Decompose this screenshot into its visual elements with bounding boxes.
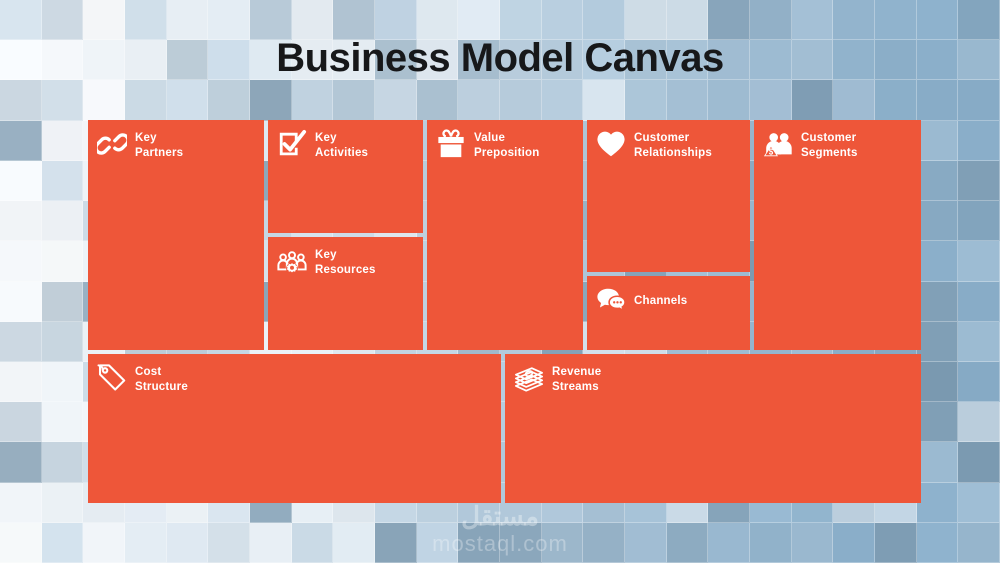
block-channels[interactable]: Channels	[587, 276, 750, 350]
people-dollar-icon: $	[763, 129, 793, 159]
block-label: Revenue Streams	[552, 363, 601, 395]
block-customer-relationships[interactable]: Customer Relationships	[587, 120, 750, 272]
chain-link-icon	[97, 129, 127, 159]
block-header: $ Customer Segments	[763, 129, 921, 161]
block-label: Cost Structure	[135, 363, 188, 395]
page-title: Business Model Canvas	[0, 36, 1000, 81]
block-label: Key Activities	[315, 129, 368, 161]
block-header: Cost Structure	[97, 363, 501, 395]
block-label: Channels	[634, 285, 687, 309]
speech-bubbles-icon	[596, 285, 626, 315]
block-key-activities[interactable]: Key Activities	[268, 120, 423, 233]
block-label: Customer Segments	[801, 129, 858, 161]
block-label: Key Resources	[315, 246, 376, 278]
gift-box-icon	[436, 129, 466, 159]
block-label: Value Preposition	[474, 129, 539, 161]
block-header: Key Activities	[277, 129, 423, 161]
block-header: Channels	[596, 285, 750, 315]
block-header: Key Resources	[277, 246, 423, 278]
block-revenue-streams[interactable]: Revenue Streams	[505, 354, 921, 503]
block-key-partners[interactable]: Key Partners	[88, 120, 264, 350]
block-value-preposition[interactable]: Value Preposition	[427, 120, 583, 350]
block-key-resources[interactable]: Key Resources	[268, 237, 423, 350]
price-tag-icon	[97, 363, 127, 393]
block-header: Value Preposition	[436, 129, 583, 161]
business-model-canvas: Key Partners Key Activities	[88, 120, 921, 503]
svg-text:$: $	[769, 147, 774, 156]
money-stack-icon	[514, 363, 544, 393]
block-header: Customer Relationships	[596, 129, 750, 161]
block-label: Key Partners	[135, 129, 183, 161]
heart-icon	[596, 129, 626, 159]
block-label: Customer Relationships	[634, 129, 712, 161]
block-customer-segments[interactable]: $ Customer Segments	[754, 120, 921, 350]
people-gear-icon	[277, 246, 307, 276]
block-cost-structure[interactable]: Cost Structure	[88, 354, 501, 503]
block-header: Key Partners	[97, 129, 264, 161]
checkbox-check-icon	[277, 129, 307, 159]
block-header: Revenue Streams	[514, 363, 921, 395]
